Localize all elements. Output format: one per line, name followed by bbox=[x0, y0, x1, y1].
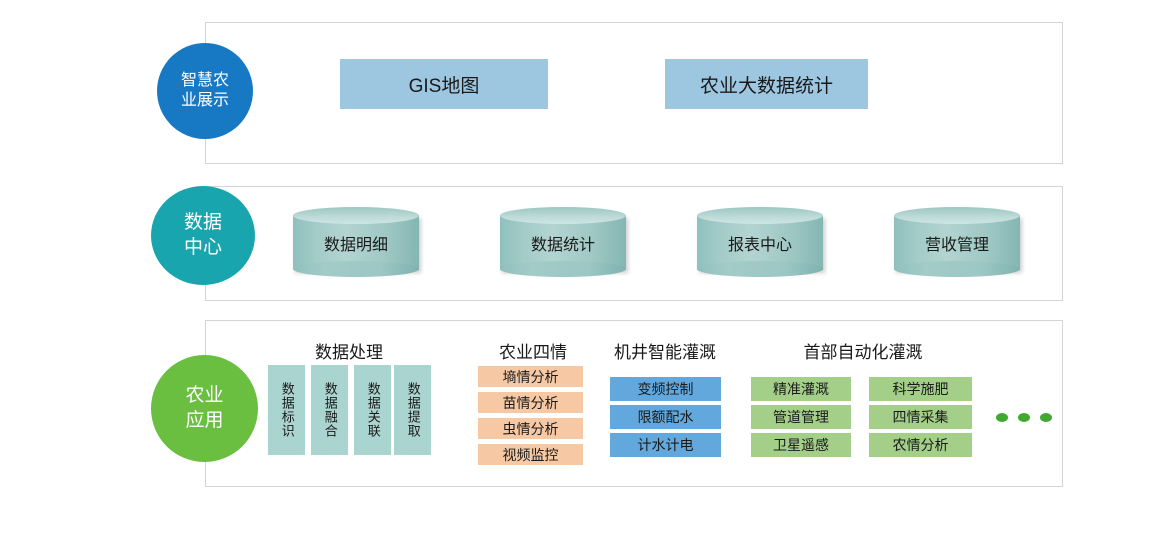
data-cylinder-revenue-management[interactable]: 营收管理 bbox=[894, 207, 1020, 277]
app-chip-scientific-fertilization[interactable]: 科学施肥 bbox=[869, 377, 972, 401]
layer-badge-display-line1: 智慧农 bbox=[181, 71, 229, 91]
app-chip-data-association[interactable]: 数据关联 bbox=[354, 365, 391, 455]
app-chip-agriculture-condition-analysis[interactable]: 农情分析 bbox=[869, 433, 972, 457]
data-cylinder-label: 数据明细 bbox=[293, 215, 419, 270]
app-chip-satellite-remote-sensing[interactable]: 卫星遥感 bbox=[751, 433, 851, 457]
ellipsis-dot-icon bbox=[996, 413, 1008, 422]
group-title-agriculture-four-conditions: 农业四情 bbox=[478, 338, 588, 363]
group-title-data-processing: 数据处理 bbox=[268, 338, 430, 363]
app-chip-data-identification[interactable]: 数据标识 bbox=[268, 365, 305, 455]
app-chip-video-monitoring[interactable]: 视频监控 bbox=[478, 444, 583, 465]
display-box-agriculture-bigdata[interactable]: 农业大数据统计 bbox=[665, 59, 868, 109]
data-cylinder-report-center[interactable]: 报表中心 bbox=[697, 207, 823, 277]
layer-badge-data-center[interactable]: 数据 中心 bbox=[151, 186, 255, 285]
layer-badge-app-line1: 农业 bbox=[185, 384, 223, 408]
app-chip-soil-moisture-analysis[interactable]: 墒情分析 bbox=[478, 366, 583, 387]
panel-display-layer bbox=[205, 22, 1063, 164]
layer-badge-app-line2: 应用 bbox=[185, 409, 223, 433]
data-cylinder-label: 报表中心 bbox=[697, 215, 823, 270]
more-items-ellipsis-icon[interactable] bbox=[996, 411, 1052, 423]
group-title-head-automated-irrigation: 首部自动化灌溉 bbox=[755, 338, 971, 363]
app-chip-frequency-control[interactable]: 变频控制 bbox=[610, 377, 721, 401]
data-cylinder-data-statistics[interactable]: 数据统计 bbox=[500, 207, 626, 277]
architecture-diagram: 智慧农 业展示 GIS地图 农业大数据统计 数据 中心 数据明细 数据统计 报表… bbox=[0, 0, 1150, 540]
display-box-gis-map[interactable]: GIS地图 bbox=[340, 59, 548, 109]
app-chip-water-electricity-metering[interactable]: 计水计电 bbox=[610, 433, 721, 457]
layer-badge-agriculture-application[interactable]: 农业 应用 bbox=[151, 355, 258, 462]
data-cylinder-label: 数据统计 bbox=[500, 215, 626, 270]
layer-badge-display[interactable]: 智慧农 业展示 bbox=[157, 43, 253, 139]
ellipsis-dot-icon bbox=[1040, 413, 1052, 422]
app-chip-data-extraction[interactable]: 数据提取 bbox=[394, 365, 431, 455]
app-chip-data-fusion[interactable]: 数据融合 bbox=[311, 365, 348, 455]
app-chip-pest-analysis[interactable]: 虫情分析 bbox=[478, 418, 583, 439]
layer-badge-data-center-line1: 数据 bbox=[184, 211, 222, 235]
app-chip-four-conditions-collection[interactable]: 四情采集 bbox=[869, 405, 972, 429]
app-chip-seedling-analysis[interactable]: 苗情分析 bbox=[478, 392, 583, 413]
app-chip-pipeline-management[interactable]: 管道管理 bbox=[751, 405, 851, 429]
layer-badge-data-center-line2: 中心 bbox=[184, 236, 222, 260]
data-cylinder-data-detail[interactable]: 数据明细 bbox=[293, 207, 419, 277]
group-title-well-smart-irrigation: 机井智能灌溉 bbox=[600, 338, 730, 363]
app-chip-precision-irrigation[interactable]: 精准灌溉 bbox=[751, 377, 851, 401]
data-cylinder-label: 营收管理 bbox=[894, 215, 1020, 270]
layer-badge-display-line2: 业展示 bbox=[181, 91, 229, 111]
app-chip-quota-water-distribution[interactable]: 限额配水 bbox=[610, 405, 721, 429]
ellipsis-dot-icon bbox=[1018, 413, 1030, 422]
